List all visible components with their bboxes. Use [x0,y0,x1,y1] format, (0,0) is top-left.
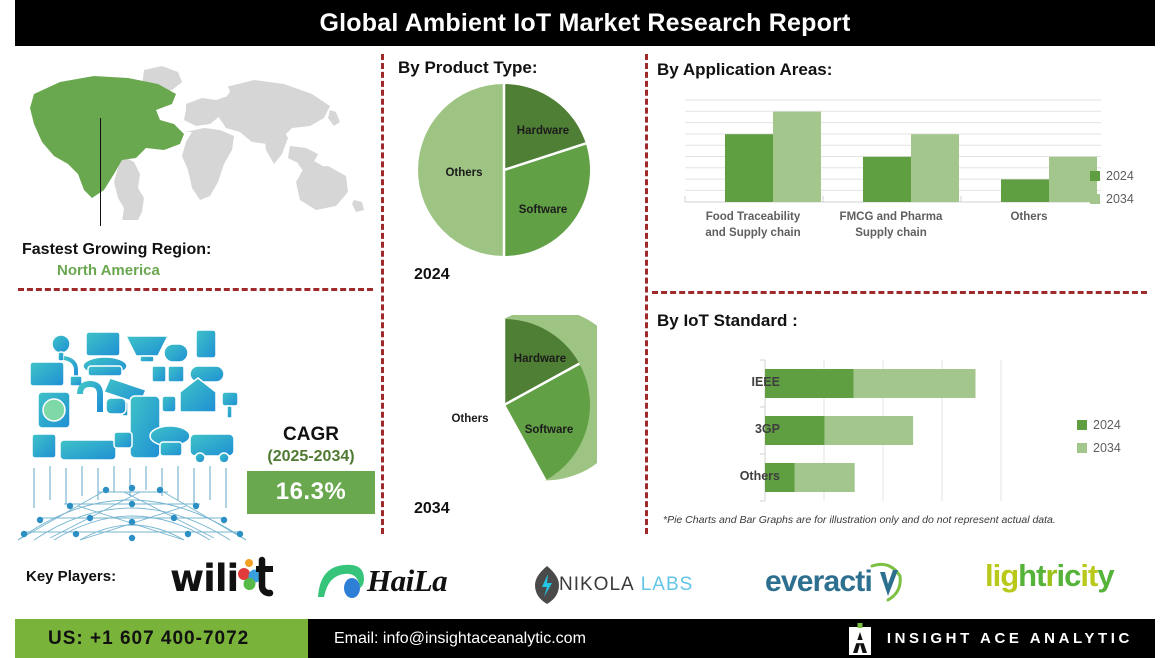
category-label-others: Others [959,210,1099,226]
iot-standard-category-ieee: IEEE [710,375,780,389]
cagr-years: (2025-2034) [247,447,375,466]
application-areas-title: By Application Areas: [657,60,832,80]
key-players-label: Key Players: [26,568,116,585]
logo-lightricity: lightricity [985,558,1114,594]
logo-haila: HaiLa [315,561,447,601]
logo-everactiv-text: everacti [765,565,872,599]
iot-standard-category-3gp: 3GP [710,422,780,436]
pie-2024-label-software: Software [519,204,568,216]
category-label-fmcg: FMCG and Pharma Supply chain [821,210,961,241]
divider-horizontal-right [652,291,1147,294]
legend-label-2024: 2024 [1106,169,1134,183]
iot-devices-illustration [10,300,255,545]
category-label-fmcg-line2: Supply chain [855,227,927,239]
legend-label-2024-iot: 2024 [1093,418,1121,432]
legend-swatch-2024-iot [1077,420,1087,430]
chart-disclaimer-note: *Pie Charts and Bar Graphs are for illus… [663,514,1056,526]
pie-chart-2024: Hardware Software Others [412,80,597,260]
legend-swatch-2034-iot [1077,443,1087,453]
category-label-fmcg-line1: FMCG and Pharma [840,211,943,223]
legend-label-2034: 2034 [1106,192,1134,206]
category-label-others-line1: Others [1010,211,1047,223]
iot-standard-title: By IoT Standard : [657,311,798,331]
legend-swatch-2024 [1090,171,1100,181]
category-label-food-line2: and Supply chain [705,227,800,239]
logo-haila-mark [315,561,367,601]
cagr-block: CAGR (2025-2034) 16.3% [247,424,375,514]
category-label-food-line1: Food Traceability [706,211,801,223]
iot-standard-legend: 2024 2034 [1077,418,1121,464]
logo-nikola-mark [535,566,559,604]
legend-item-2034-iot: 2034 [1077,441,1121,455]
pie-2024-year: 2024 [414,266,450,284]
logo-lightricity-text: lightricity [985,558,1114,594]
application-areas-bar-chart [683,92,1103,207]
page-title: Global Ambient IoT Market Research Repor… [320,9,851,38]
application-areas-category-labels: Food Traceability and Supply chain FMCG … [683,210,1103,250]
category-label-food: Food Traceability and Supply chain [683,210,823,241]
fastest-growing-region-value: North America [57,262,160,279]
brand-logo-icon [849,623,871,655]
footer-brand-text: INSIGHT ACE ANALYTIC [887,630,1133,647]
fastest-growing-region-label: Fastest Growing Region: [22,241,211,259]
logo-nikola-text: NIKOLA [559,574,635,596]
application-areas-legend: 2024 2034 [1090,169,1134,215]
footer-brand: INSIGHT ACE ANALYTIC [849,619,1155,658]
divider-horizontal-left [18,288,373,291]
legend-item-2034: 2034 [1090,192,1134,206]
legend-item-2024: 2024 [1090,169,1134,183]
world-map [18,60,368,220]
cagr-value: 16.3% [247,471,375,514]
north-america-highlight [30,76,184,198]
legend-label-2034-iot: 2034 [1093,441,1121,455]
footer-bar: US: +1 607 400-7072 Email: info@insighta… [15,619,1155,658]
logo-everactiv-mark [870,560,904,604]
logo-labs-text: LABS [641,574,694,596]
cagr-title: CAGR [247,424,375,446]
product-type-title: By Product Type: [398,58,537,78]
logo-nikola-labs: NIKOLA LABS [535,566,693,604]
footer-email[interactable]: Email: info@insightaceanalytic.com [308,619,849,658]
report-header: Global Ambient IoT Market Research Repor… [15,0,1155,46]
map-pointer-line [100,118,101,226]
pie-2034-label-others: Others [451,413,488,425]
pie-2024-label-others: Others [445,167,482,179]
logo-wiliot: wili [170,556,281,600]
iot-standard-category-others: Others [710,469,780,483]
legend-item-2024-iot: 2024 [1077,418,1121,432]
logo-everactiv: everacti [765,560,904,604]
legend-swatch-2034 [1090,194,1100,204]
divider-vertical-left [381,54,384,534]
pie-2024-label-hardware: Hardware [517,125,569,137]
pie-2034-label-software: Software [525,424,574,436]
infographic-page: Global Ambient IoT Market Research Repor… [0,0,1170,658]
pie-2034-label-hardware: Hardware [514,353,566,365]
footer-phone[interactable]: US: +1 607 400-7072 [15,619,308,658]
pie-2034-year: 2034 [414,500,450,518]
logo-wiliot-mark [235,556,281,600]
logo-haila-text: HaiLa [367,563,447,599]
divider-vertical-right [645,54,648,534]
pie-chart-2034: Hardware Software Others [412,315,597,495]
logo-wiliot-text: wili [170,557,238,600]
